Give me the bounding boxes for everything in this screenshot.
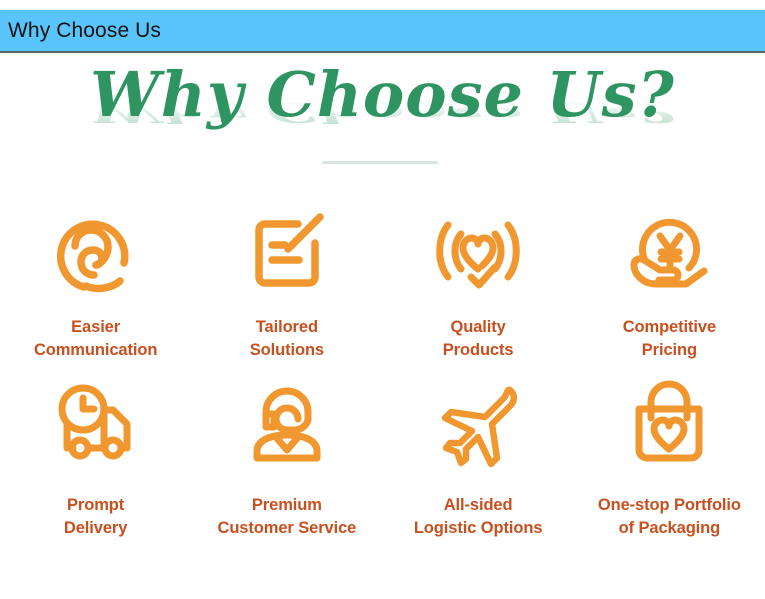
feature-label: Premium Customer Service <box>218 494 357 540</box>
feature-item-prompt-delivery[interactable]: Prompt Delivery <box>0 374 191 560</box>
feature-label: Prompt Delivery <box>64 494 127 540</box>
feature-item-tailored-solutions[interactable]: Tailored Solutions <box>191 196 382 374</box>
ear-in-circle-icon <box>43 196 149 302</box>
feature-label: Competitive Pricing <box>623 316 716 362</box>
feature-item-one-stop-portfolio-of-packaging[interactable]: One-stop Portfolio of Packaging <box>574 374 765 560</box>
feature-item-premium-customer-service[interactable]: Premium Customer Service <box>191 374 382 560</box>
feature-label: Quality Products <box>443 316 514 362</box>
feature-grid: Easier Communication Tailored Solutions <box>0 196 765 560</box>
feature-item-competitive-pricing[interactable]: Competitive Pricing <box>574 196 765 374</box>
feature-label: Tailored Solutions <box>250 316 324 362</box>
feature-label: Easier Communication <box>34 316 157 362</box>
feature-item-all-sided-logistic-options[interactable]: All-sided Logistic Options <box>383 374 574 560</box>
shopping-bag-heart-icon <box>616 374 722 474</box>
hand-holding-yen-coin-icon <box>616 196 722 302</box>
header-bar: Why Choose Us <box>0 10 765 53</box>
delivery-truck-clock-icon <box>43 374 149 474</box>
airplane-icon <box>425 374 531 474</box>
page-title: Why Choose Us <box>0 19 161 43</box>
title-divider <box>322 161 438 164</box>
feature-label: All-sided Logistic Options <box>414 494 543 540</box>
feature-label: One-stop Portfolio of Packaging <box>598 494 741 540</box>
hero-banner: Why Choose Us? Why Choose Us? <box>0 57 765 162</box>
document-pencil-icon <box>234 196 340 302</box>
feature-item-quality-products[interactable]: Quality Products <box>383 196 574 374</box>
heart-signal-check-icon <box>425 196 531 302</box>
why-choose-us-page: Why Choose Us Why Choose Us? Why Choose … <box>0 0 765 599</box>
feature-item-easier-communication[interactable]: Easier Communication <box>0 196 191 374</box>
headset-agent-icon <box>234 374 340 474</box>
hero-title: Why Choose Us? <box>0 57 765 133</box>
